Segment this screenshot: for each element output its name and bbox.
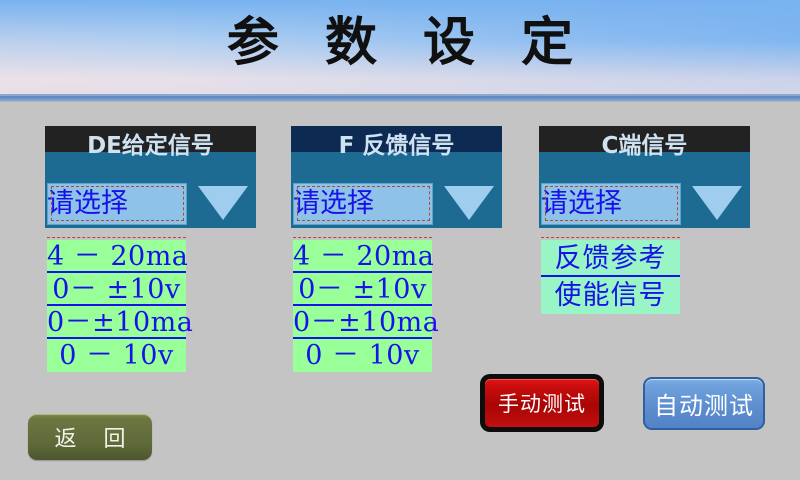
chevron-down-icon[interactable] xyxy=(692,186,742,220)
list-item[interactable]: 0－ ±10v xyxy=(47,273,186,306)
list-top-dash xyxy=(541,237,680,238)
panel-c-terminal-signal: C端信号 请选择 xyxy=(539,126,750,228)
option-list-de-given-signal[interactable]: 4 － 20ma 0－ ±10v 0－±10ma 0 － 10v xyxy=(47,240,186,372)
list-item[interactable]: 反馈参考 xyxy=(541,240,680,277)
chevron-down-icon[interactable] xyxy=(444,186,494,220)
dropdown-value-f-feedback-signal: 请选择 xyxy=(293,185,374,223)
list-item[interactable]: 使能信号 xyxy=(541,277,680,314)
list-item[interactable]: 0－±10ma xyxy=(293,306,432,339)
list-item[interactable]: 0 － 10v xyxy=(47,339,186,372)
header-divider xyxy=(0,96,800,102)
auto-test-button-label: 自动测试 xyxy=(654,386,754,421)
manual-test-button-label: 手动测试 xyxy=(498,388,586,418)
dropdown-c-terminal-signal[interactable]: 请选择 xyxy=(541,183,681,225)
manual-test-button[interactable]: 手动测试 xyxy=(480,374,604,432)
option-list-f-feedback-signal[interactable]: 4 － 20ma 0－ ±10v 0－±10ma 0 － 10v xyxy=(293,240,432,372)
list-item[interactable]: 0－ ±10v xyxy=(293,273,432,306)
list-item[interactable]: 0 － 10v xyxy=(293,339,432,372)
list-item[interactable]: 0－±10ma xyxy=(47,306,186,339)
page-title: 参 数 设 定 xyxy=(0,12,800,74)
option-list-c-terminal-signal[interactable]: 反馈参考 使能信号 xyxy=(541,240,680,314)
panel-label-f-feedback-signal: F 反馈信号 xyxy=(291,126,502,166)
panel-label-c-terminal-signal: C端信号 xyxy=(539,126,750,166)
panel-de-given-signal: DE给定信号 请选择 xyxy=(45,126,256,228)
list-item[interactable]: 4 － 20ma xyxy=(47,240,186,273)
panel-f-feedback-signal: F 反馈信号 请选择 xyxy=(291,126,502,228)
list-top-dash xyxy=(47,237,186,238)
screen-root: 参 数 设 定 DE给定信号 请选择 4 － 20ma 0－ ±10v 0－±1… xyxy=(0,0,800,480)
chevron-down-icon[interactable] xyxy=(198,186,248,220)
list-item[interactable]: 4 － 20ma xyxy=(293,240,432,273)
dropdown-f-feedback-signal[interactable]: 请选择 xyxy=(293,183,433,225)
back-button-label: 返 回 xyxy=(45,421,136,453)
manual-test-button-face: 手动测试 xyxy=(485,379,599,427)
back-button[interactable]: 返 回 xyxy=(28,414,152,460)
list-top-dash xyxy=(293,237,432,238)
dropdown-value-c-terminal-signal: 请选择 xyxy=(541,185,622,223)
dropdown-de-given-signal[interactable]: 请选择 xyxy=(47,183,187,225)
panel-label-de-given-signal: DE给定信号 xyxy=(45,126,256,166)
dropdown-value-de-given-signal: 请选择 xyxy=(47,185,128,223)
auto-test-button[interactable]: 自动测试 xyxy=(643,377,765,430)
